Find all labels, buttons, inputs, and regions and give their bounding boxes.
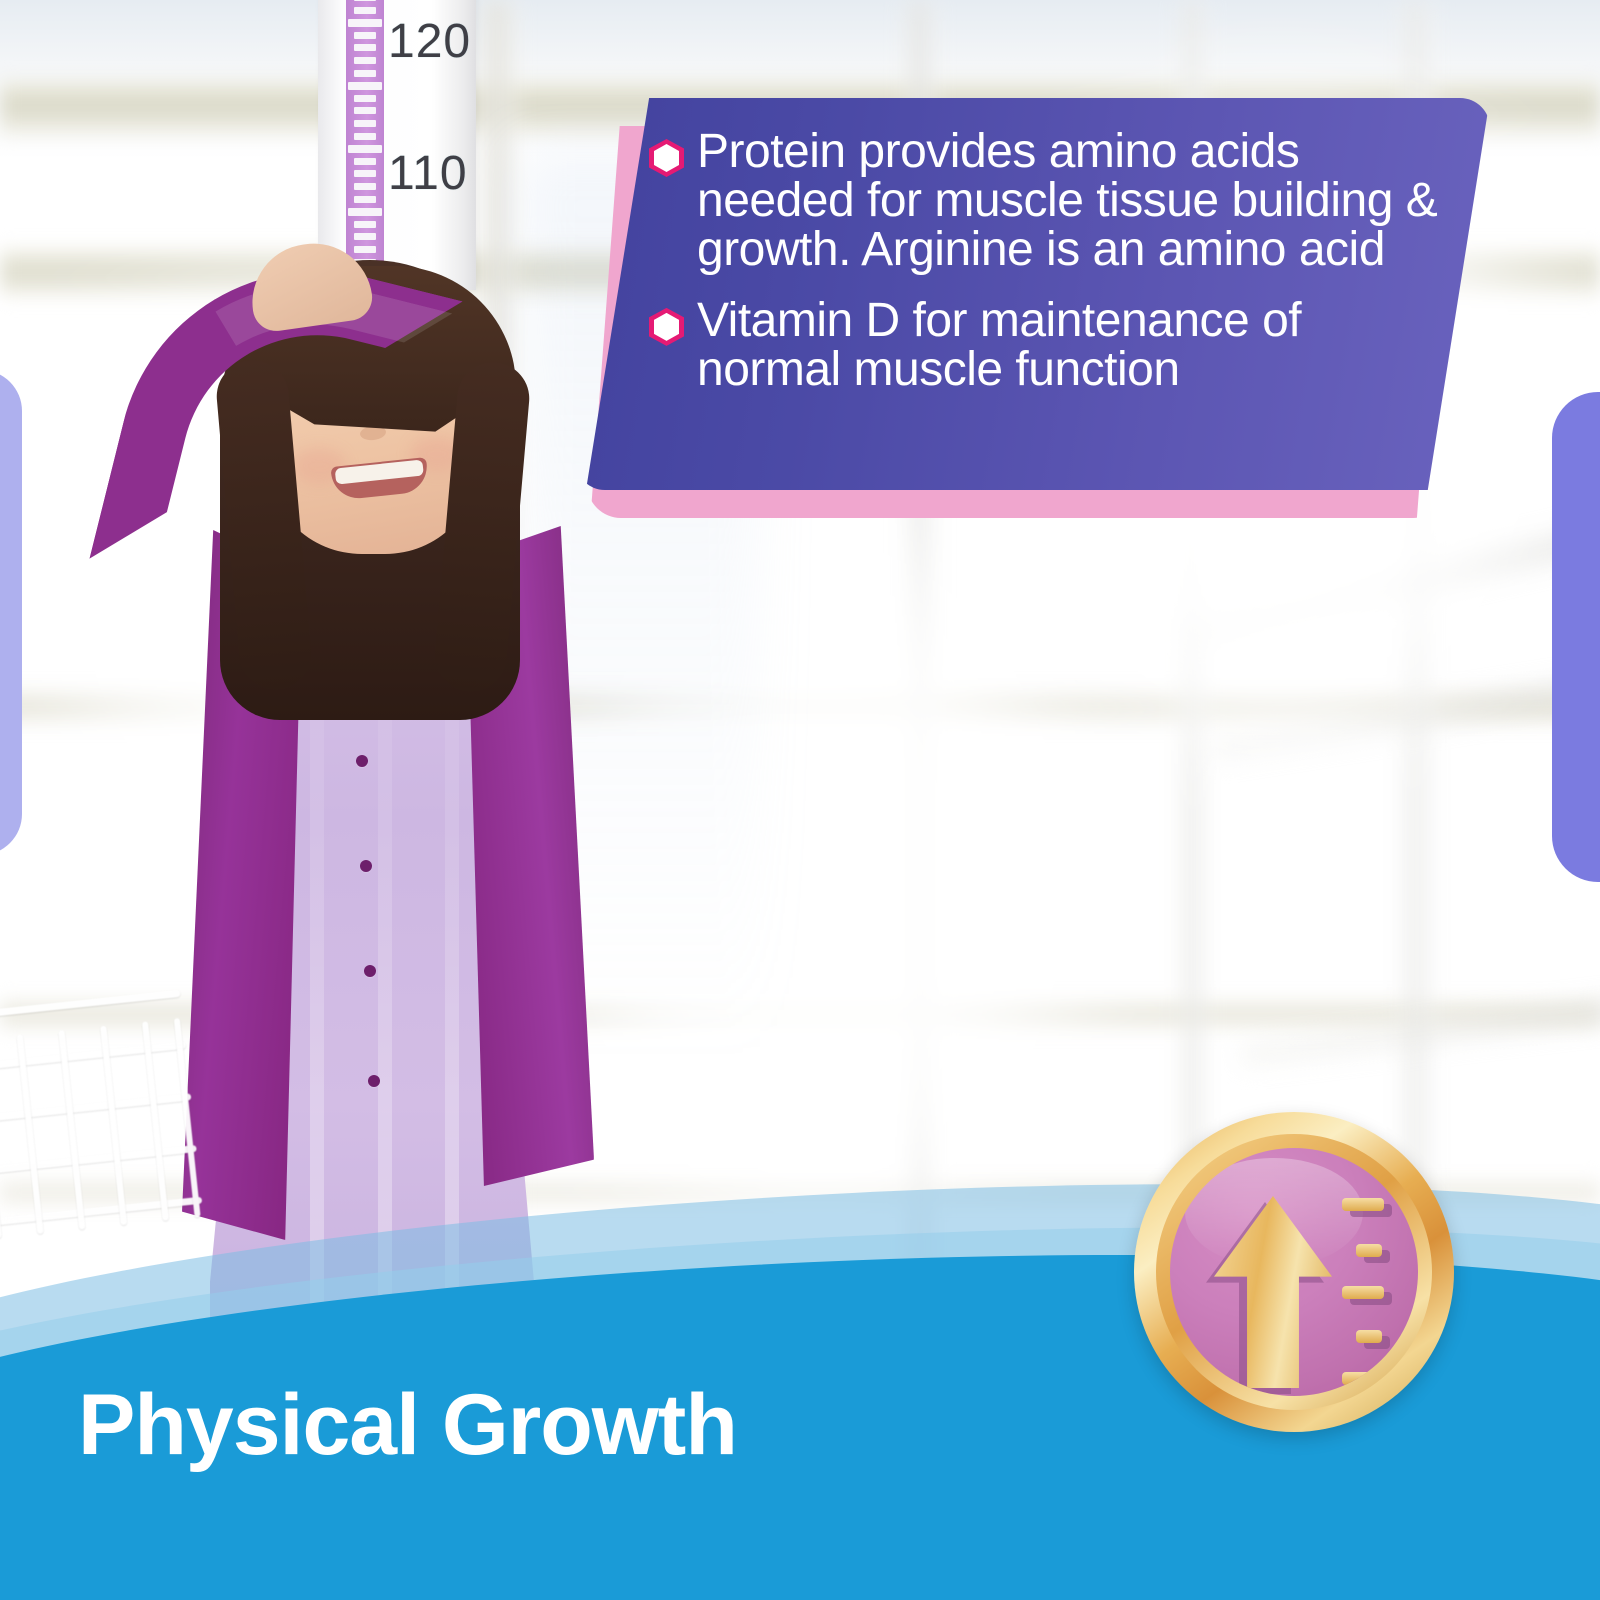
- ruler-minor-tick: [354, 170, 376, 177]
- ruler-minor-tick: [354, 70, 376, 77]
- cardigan-button: [364, 965, 376, 977]
- cart-wire: [0, 1197, 202, 1226]
- ruler-tick-icon: [1356, 1330, 1382, 1343]
- ruler-minor-tick: [354, 196, 376, 203]
- ruler-minor-tick: [354, 44, 376, 51]
- ruler-minor-tick: [354, 158, 376, 165]
- ruler-minor-tick: [354, 32, 376, 39]
- ruler-major-tick: [348, 145, 382, 153]
- girl-hand: [245, 236, 375, 334]
- ruler-tick-icon: [1356, 1244, 1382, 1257]
- bullet-item-text: Protein provides amino acids needed for …: [697, 128, 1456, 275]
- ruler-major-tick: [348, 208, 382, 216]
- hexagon-bullet-icon: [649, 308, 684, 346]
- ruler-tick-icon: [1342, 1198, 1384, 1211]
- bullet-item: Vitamin D for maintenance of normal musc…: [649, 297, 1456, 395]
- ruler-major-tick: [348, 82, 382, 90]
- hexagon-bullet-icon: [649, 139, 684, 177]
- ruler-minor-tick: [354, 57, 376, 64]
- cardigan-button: [356, 755, 368, 767]
- ruler-minor-tick: [354, 7, 376, 14]
- ruler-major-tick: [348, 19, 382, 27]
- bullet-item: Protein provides amino acids needed for …: [649, 128, 1456, 275]
- height-chart-label-110: 110: [388, 146, 468, 201]
- poster-canvas: 120 110: [0, 0, 1600, 1600]
- badge-face: [1170, 1148, 1418, 1396]
- shopping-cart: [0, 989, 214, 1290]
- ruler-minor-tick: [354, 221, 376, 228]
- ruler-minor-tick: [354, 107, 376, 114]
- cardigan-button: [360, 860, 372, 872]
- ruler-minor-tick: [354, 95, 376, 102]
- height-chart-label-120: 120: [388, 14, 471, 69]
- decorative-slab-right: [1552, 392, 1600, 882]
- ruler-minor-tick: [354, 120, 376, 127]
- footer-fill: [0, 1490, 1600, 1600]
- info-panel-wrapper: Protein provides amino acids needed for …: [575, 98, 1490, 498]
- ruler-minor-tick: [354, 0, 376, 1]
- info-panel: Protein provides amino acids needed for …: [575, 98, 1490, 490]
- bullet-item-text: Vitamin D for maintenance of normal musc…: [697, 297, 1456, 395]
- decorative-slab-left: [0, 370, 22, 855]
- ruler-tick-icon: [1342, 1286, 1384, 1299]
- ruler-tick-icon: [1342, 1372, 1384, 1385]
- cart-wire: [0, 1039, 2, 1239]
- ruler-minor-tick: [354, 183, 376, 190]
- ruler-minor-tick: [354, 133, 376, 140]
- physical-growth-badge: [1134, 1112, 1454, 1432]
- page-title: Physical Growth: [78, 1376, 737, 1475]
- cardigan-button: [368, 1075, 380, 1087]
- cart-wire: [0, 1042, 186, 1071]
